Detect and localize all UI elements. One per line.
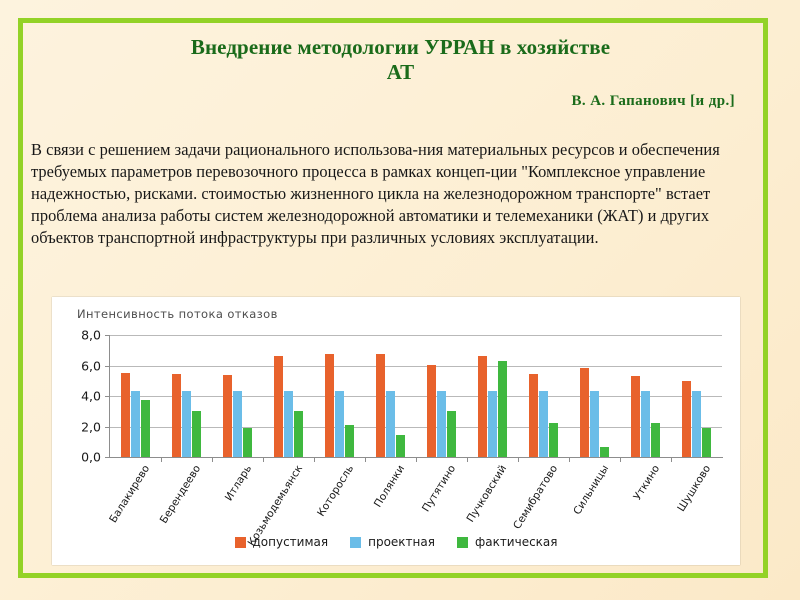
bar	[131, 391, 140, 457]
x-axis-label-text: Шушково	[675, 463, 713, 514]
bar	[274, 356, 283, 457]
page-title-line-2: АТ	[78, 60, 723, 85]
bar	[437, 391, 446, 457]
x-axis-label-text: Полянки	[371, 463, 406, 510]
legend-item: проектная	[350, 535, 435, 549]
page-title-line-1: Внедрение методологии УРРАН в хозяйстве	[78, 35, 723, 60]
y-axis-tick-label: 8,0	[81, 328, 101, 343]
slide-canvas: Внедрение методологии УРРАН в хозяйстве …	[0, 0, 800, 600]
authors-line: В. А. Гапанович [и др.]	[572, 93, 736, 110]
bar	[427, 365, 436, 457]
bar	[141, 400, 150, 457]
bar	[182, 391, 191, 457]
y-axis-tick-label: 4,0	[81, 389, 101, 404]
legend-label: допустимая	[253, 535, 329, 549]
y-axis-tick-label: 2,0	[81, 419, 101, 434]
bar	[682, 381, 691, 457]
legend-swatch	[350, 537, 361, 548]
legend-item: допустимая	[235, 535, 329, 549]
x-axis-label-text: Пучковский	[464, 463, 509, 525]
x-axis-label-text: Итларь	[222, 463, 253, 503]
x-axis-label-text: Путятино	[420, 463, 458, 514]
bar	[233, 391, 242, 457]
chart-panel: Интенсивность потока отказов 0,02,04,06,…	[52, 297, 740, 565]
chart-legend: допустимаяпроектнаяфактическая	[52, 535, 740, 549]
bar	[488, 391, 497, 457]
slide-content: Внедрение методологии УРРАН в хозяйстве …	[23, 23, 763, 573]
y-axis-tick-label: 6,0	[81, 358, 101, 373]
x-axis-label-text: Сильницы	[571, 463, 611, 517]
bar	[498, 361, 507, 457]
legend-label: фактическая	[475, 535, 558, 549]
x-axis-label-text: Балакирево	[107, 463, 152, 525]
bar	[590, 391, 599, 457]
bar	[641, 391, 650, 457]
bar	[386, 391, 395, 457]
bar-group	[110, 335, 161, 457]
page-title: Внедрение методологии УРРАН в хозяйстве …	[78, 35, 723, 85]
legend-item: фактическая	[457, 535, 558, 549]
bar	[478, 356, 487, 457]
y-axis-tick-label: 0,0	[81, 450, 101, 465]
x-axis-label-text: Которосль	[315, 463, 356, 519]
bar	[539, 391, 548, 457]
chart-title: Интенсивность потока отказов	[77, 307, 278, 321]
x-axis-label-text: Уткино	[631, 463, 662, 502]
legend-swatch	[235, 537, 246, 548]
x-axis-label-text: Семибратово	[511, 463, 560, 531]
bar	[284, 391, 293, 457]
bar	[121, 373, 130, 457]
body-paragraph: В связи с решением задачи рационального …	[31, 139, 743, 248]
legend-label: проектная	[368, 535, 435, 549]
legend-swatch	[457, 537, 468, 548]
bar	[692, 391, 701, 457]
bar	[376, 354, 385, 457]
x-axis-label-text: Берендеево	[157, 463, 202, 526]
